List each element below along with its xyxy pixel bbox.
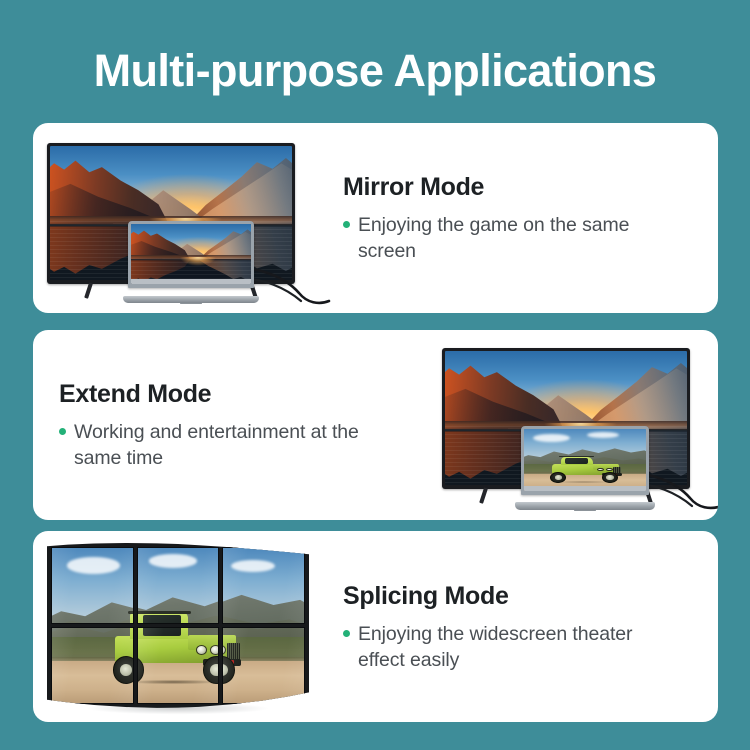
scene-offroad-jeep-tile [137, 548, 220, 624]
page-title: Multi-purpose Applications [0, 44, 750, 98]
jeep-rim [606, 475, 613, 479]
jeep-vehicle [222, 627, 241, 685]
bullet-dot-icon [59, 428, 66, 435]
splicing-mode-bullet-row: Enjoying the widescreen theater effect e… [343, 621, 700, 673]
video-wall-panel [137, 627, 220, 704]
laptop-lid [128, 221, 253, 288]
video-wall-frame [47, 543, 309, 708]
jeep-cab [130, 612, 133, 624]
jeep-wheel-rear [113, 656, 134, 683]
bullet-dot-icon [343, 630, 350, 637]
laptop-base [123, 296, 259, 303]
jeep-roll-cage [137, 611, 191, 614]
jeep-roll-cage [128, 611, 134, 614]
jeep-window [565, 458, 588, 464]
extend-mode-bullet-text: Working and entertainment at the same ti… [74, 419, 364, 471]
jeep-vehicle [105, 627, 133, 685]
laptop-screen [131, 224, 250, 284]
extend-mode-bullet-row: Working and entertainment at the same ti… [59, 419, 408, 471]
scene-cloud [67, 557, 120, 574]
card-splicing-layout: Splicing Mode Enjoying the widescreen th… [33, 531, 718, 722]
card-mirror-layout: Mirror Mode Enjoying the game on the sam… [33, 123, 718, 313]
scene-offroad-jeep-tile [137, 627, 220, 703]
video-wall-shadow [57, 702, 298, 718]
extend-mode-text: Extend Mode Working and entertainment at… [33, 379, 418, 471]
splicing-mode-bullet-text: Enjoying the widescreen theater effect e… [358, 621, 648, 673]
bullet-dot-icon [343, 221, 350, 228]
scene-offroad-jeep [524, 429, 647, 491]
video-wall-panel [137, 547, 220, 624]
jeep-rim [210, 664, 219, 676]
video-wall-panel-grid [47, 543, 309, 708]
jeep-window [143, 615, 181, 624]
video-wall-panel [222, 627, 305, 704]
laptop-screen [524, 429, 647, 491]
jeep-cab [130, 627, 133, 639]
card-splicing-mode: Splicing Mode Enjoying the widescreen th… [33, 531, 718, 722]
jeep-wheel-rear [550, 472, 566, 483]
card-mirror-mode: Mirror Mode Enjoying the game on the sam… [33, 123, 718, 313]
laptop-bezel-chin [131, 279, 250, 284]
video-wall-panel [51, 547, 134, 624]
mirror-mode-illustration [33, 123, 333, 313]
mirror-mode-bullet-row: Enjoying the game on the same screen [343, 212, 700, 264]
laptop-bezel-chin [524, 486, 647, 491]
scene-offroad-jeep-tile [52, 548, 134, 624]
jeep-rim [222, 664, 228, 676]
laptop-icon [123, 221, 259, 303]
mirror-mode-text: Mirror Mode Enjoying the game on the sam… [333, 172, 718, 264]
scene-offroad-jeep-tile [222, 548, 304, 624]
splicing-mode-title: Splicing Mode [343, 581, 700, 611]
laptop-base [515, 502, 655, 510]
video-wall-icon [47, 543, 309, 708]
jeep-rim [137, 664, 138, 676]
jeep-vehicle [546, 455, 622, 483]
card-extend-mode: Extend Mode Working and entertainment at… [33, 330, 718, 520]
mirror-mode-title: Mirror Mode [343, 172, 700, 202]
jeep-headlight [210, 645, 220, 655]
jeep-window [143, 627, 181, 636]
jeep-headlight [196, 645, 207, 655]
jeep-wheel-front [602, 472, 618, 483]
video-wall-panel [222, 547, 305, 624]
splicing-mode-illustration [33, 531, 333, 722]
mirror-mode-bullet-text: Enjoying the game on the same screen [358, 212, 648, 264]
extend-mode-title: Extend Mode [59, 379, 408, 409]
scene-cloud [231, 560, 275, 572]
scene-cloud [149, 554, 197, 568]
scene-sunset-mountain-lake-mirrored [131, 224, 250, 284]
jeep-vehicle [222, 608, 241, 624]
jeep-vehicle [137, 627, 220, 685]
jeep-vehicle [105, 608, 133, 624]
jeep-rim [555, 475, 562, 479]
jeep-wheel-front [203, 656, 219, 683]
tv-foot-left [84, 282, 93, 298]
scene-cloud [533, 434, 570, 442]
laptop-lid [521, 426, 650, 495]
jeep-vehicle [137, 608, 220, 624]
extend-mode-illustration [418, 330, 718, 520]
card-extend-layout: Extend Mode Working and entertainment at… [33, 330, 718, 520]
scene-offroad-jeep-tile [52, 627, 134, 703]
jeep-rim [120, 664, 133, 676]
laptop-icon [515, 426, 655, 510]
tv-foot-left [479, 487, 488, 503]
video-wall-panel [51, 627, 134, 704]
scene-offroad-jeep-tile [222, 627, 304, 703]
splicing-mode-text: Splicing Mode Enjoying the widescreen th… [333, 581, 718, 673]
